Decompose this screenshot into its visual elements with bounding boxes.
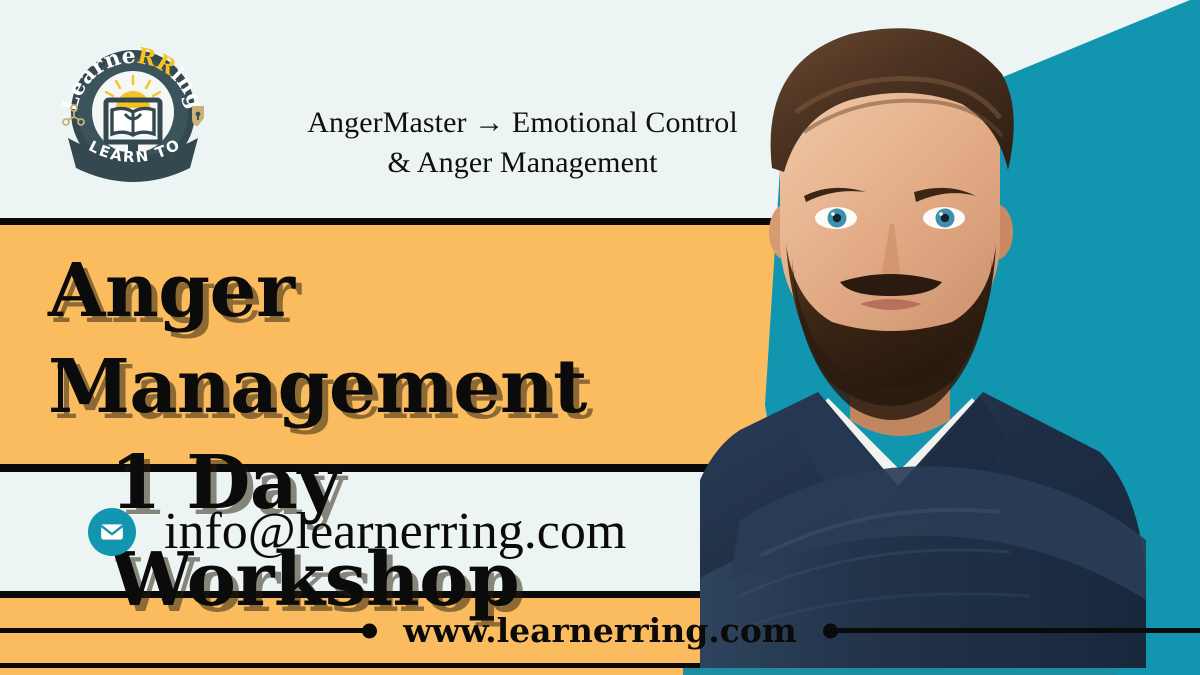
tagline-line-2: & Anger Management xyxy=(250,143,795,183)
email-address[interactable]: info@learnerring.com xyxy=(164,506,626,558)
tagline: AngerMaster → Emotional Control & Anger … xyxy=(250,103,795,183)
email-contact-row[interactable]: info@learnerring.com xyxy=(88,496,626,568)
promo-banner: LearneRRing xyxy=(0,0,1200,675)
teal-bottom-strip xyxy=(683,668,1115,675)
website-bar[interactable]: www.learnerring.com xyxy=(0,598,1200,663)
website-url[interactable]: www.learnerring.com xyxy=(373,614,827,647)
envelope-icon xyxy=(88,508,136,556)
web-rule-right xyxy=(827,628,1200,633)
headline-line-1: Anger Management xyxy=(48,243,734,435)
learnerring-logo[interactable]: LearneRRing xyxy=(52,28,214,196)
tagline-line-1: AngerMaster → Emotional Control xyxy=(250,103,795,143)
page-title: Anger Management 1 Day Workshop xyxy=(44,243,734,628)
web-rule-left xyxy=(0,628,373,633)
presenter-portrait-photo xyxy=(700,0,1200,668)
shield-lock-icon xyxy=(192,106,204,126)
